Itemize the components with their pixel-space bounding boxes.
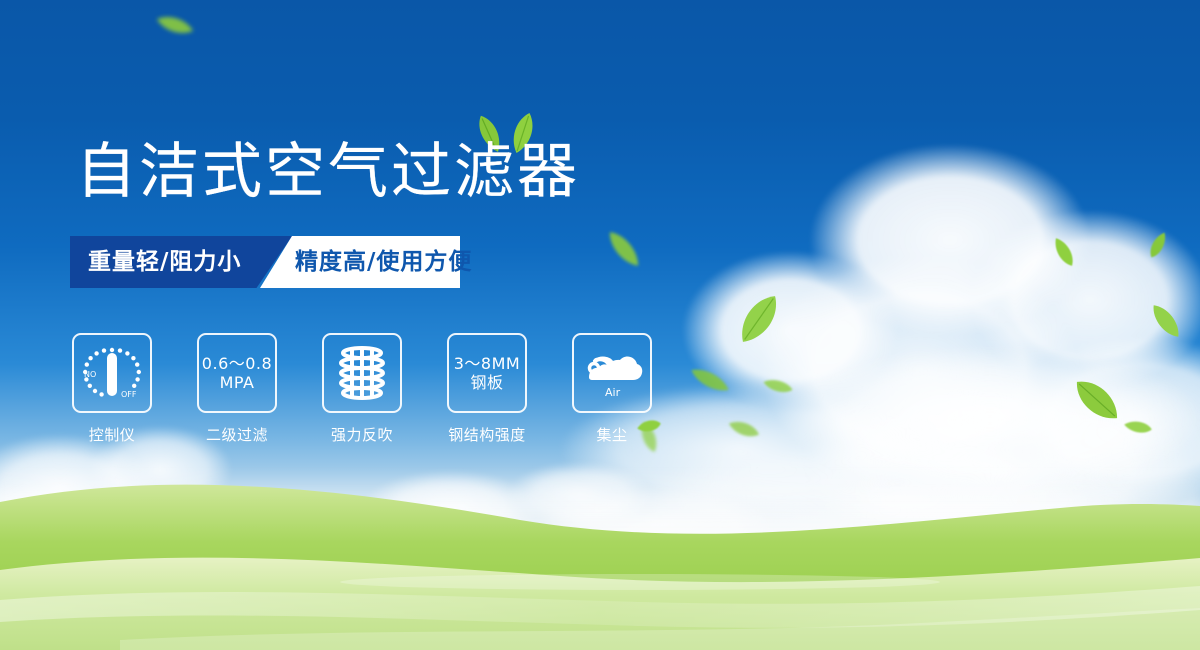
gauge-icon: NO OFF [79, 342, 145, 404]
filter-cartridge-icon [334, 344, 390, 402]
feature-label: 控制仪 [89, 424, 136, 445]
hero-banner: 自洁式空气过滤器 重量轻/阻力小 精度高/使用方便 [0, 0, 1200, 650]
leaf-floating-6 [1048, 233, 1081, 271]
leaf-floating-8 [1144, 298, 1187, 345]
feature-list: NO OFF 控制仪 0.6～0.8 MPA 二级过滤 [70, 333, 654, 445]
subtitle-left-text: 重量轻/阻力小 [88, 236, 241, 288]
feature-item-steel[interactable]: 3～8MM 钢板 钢结构强度 [445, 333, 529, 445]
leaf-floating-7 [1144, 228, 1172, 262]
leaf-floating-9 [1065, 369, 1129, 432]
leaf-floating-5 [725, 415, 763, 444]
page-title: 自洁式空气过滤器 [76, 142, 580, 202]
feature-label: 强力反吹 [331, 424, 393, 445]
pressure-line2: MPA [202, 373, 272, 392]
cloud-air-icon-box: Air [572, 333, 652, 413]
feature-item-backblow[interactable]: 强力反吹 [320, 333, 404, 445]
leaf-floating-10 [1122, 417, 1154, 438]
leaf-floating-2 [728, 285, 789, 352]
steel-line1: 3～8MM [454, 354, 520, 373]
leaf-floating-3 [686, 361, 734, 399]
feature-item-dust[interactable]: Air 集尘 [570, 333, 654, 445]
subtitle-right-text: 精度高/使用方便 [295, 236, 472, 288]
steel-plate-icon-box: 3～8MM 钢板 [447, 333, 527, 413]
gauge-icon-box: NO OFF [72, 333, 152, 413]
steel-line2: 钢板 [454, 373, 520, 392]
grass-field [0, 450, 1200, 650]
gauge-off-label: OFF [121, 390, 137, 399]
cloud-air-icon: Air [581, 343, 643, 403]
leaf-floating-11 [153, 9, 197, 40]
filter-cartridge-icon-box [322, 333, 402, 413]
leaf-floating-1 [601, 224, 647, 273]
feature-item-controller[interactable]: NO OFF 控制仪 [70, 333, 154, 445]
gauge-no-label: NO [84, 370, 96, 379]
subtitle-banner: 重量轻/阻力小 精度高/使用方便 [70, 236, 460, 288]
feature-label: 集尘 [596, 424, 627, 445]
feature-label: 二级过滤 [206, 424, 268, 445]
feature-item-pressure[interactable]: 0.6～0.8 MPA 二级过滤 [195, 333, 279, 445]
pressure-icon-box: 0.6～0.8 MPA [197, 333, 277, 413]
feature-label: 钢结构强度 [448, 424, 526, 445]
pressure-line1: 0.6～0.8 [202, 354, 272, 373]
leaf-floating-4 [760, 374, 795, 398]
air-label: Air [605, 386, 621, 399]
